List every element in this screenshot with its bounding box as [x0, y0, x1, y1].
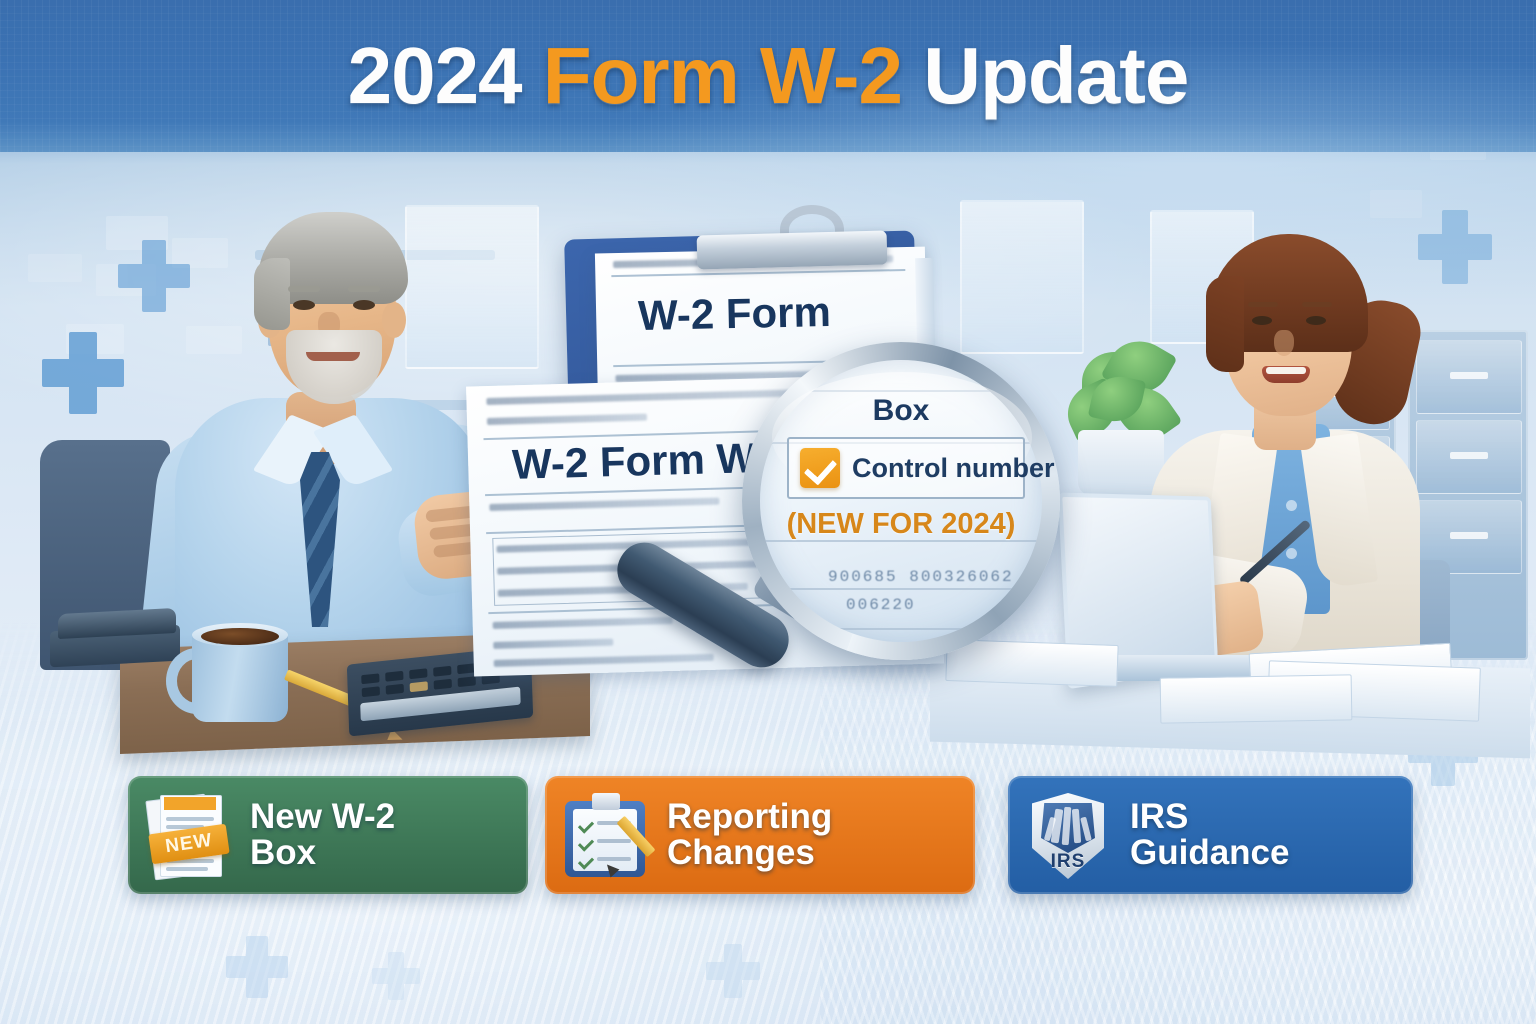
badge-irs-guidance[interactable]: IRS IRS Guidance: [1008, 776, 1413, 894]
background-mosaic-square: [186, 326, 242, 354]
cabinet-handle: [1450, 532, 1488, 539]
eye: [353, 300, 375, 310]
badge-line-1: IRS: [1130, 799, 1289, 835]
eye: [1252, 316, 1272, 325]
badge-new-w2-box[interactable]: NEW New W-2 Box: [128, 776, 528, 894]
background-plus-icon: [118, 240, 190, 312]
calculator-key: [361, 673, 379, 684]
badge-line-1: Reporting: [667, 799, 832, 835]
calculator-display: [360, 687, 521, 722]
background-plus-icon: [42, 332, 124, 414]
background-plus-icon: [372, 952, 420, 1000]
eagle-wing: [1072, 809, 1081, 843]
clipboard-clip: [697, 231, 888, 270]
calculator-key: [457, 663, 475, 674]
cabinet-handle: [1450, 452, 1488, 459]
badge-line-2: Box: [250, 835, 395, 871]
eyebrow: [1248, 302, 1278, 307]
new-for-2024-callout: (NEW FOR 2024): [760, 508, 1042, 541]
background-plus-icon: [226, 936, 288, 998]
shirt-button: [1286, 548, 1297, 559]
calculator-key: [433, 666, 451, 677]
paper-stack: [1160, 674, 1353, 723]
clipboard-clip: [592, 793, 620, 810]
badge-line-1: New W-2: [250, 799, 395, 835]
teeth: [1266, 367, 1306, 374]
checkbox-checked-icon[interactable]: [800, 448, 840, 488]
document-header-bar: [164, 797, 216, 810]
calculator-key: [385, 671, 403, 682]
eye: [1306, 316, 1326, 325]
hair: [1206, 276, 1244, 372]
clipboard-checklist-pencil-icon: [559, 789, 651, 881]
eagle-wing: [1062, 807, 1072, 845]
background-plus-icon: [706, 944, 760, 998]
badge-label-reporting-changes: Reporting Changes: [667, 799, 832, 872]
background-mosaic-square: [28, 254, 82, 282]
checklist-line: [597, 857, 631, 861]
title-form-w2: Form W-2: [543, 31, 902, 120]
title-update: Update: [902, 31, 1188, 120]
calculator-key: [458, 676, 476, 687]
eagle-wing: [1080, 817, 1092, 842]
stacked-documents-new-tag-icon: NEW: [142, 789, 234, 881]
office-window: [405, 205, 539, 369]
coffee-liquid: [201, 628, 279, 645]
badge-reporting-changes[interactable]: Reporting Changes: [545, 776, 975, 894]
badge-label-new-w2-box: New W-2 Box: [250, 799, 395, 872]
eye: [293, 300, 315, 310]
paper-stack: [945, 639, 1118, 687]
document-line: [166, 817, 214, 821]
eyebrow: [288, 286, 320, 292]
shirt-button: [1286, 500, 1297, 511]
banner-image: 2024 Form W-2 Update: [0, 0, 1536, 1024]
background-plus-icon: [1418, 210, 1492, 284]
title-year: 2024: [348, 31, 543, 120]
magnified-digits-row: 006220: [846, 596, 916, 614]
clipboard-form-title: W-2 Form: [638, 288, 832, 340]
magnified-box-label: Box: [760, 394, 1042, 428]
plant-pot: [1078, 430, 1164, 496]
ear: [382, 302, 406, 338]
nose: [1274, 330, 1294, 356]
calculator-key: [362, 686, 380, 697]
eyebrow: [1302, 302, 1332, 307]
mouth: [306, 352, 360, 361]
badge-label-irs-guidance: IRS Guidance: [1130, 799, 1289, 872]
hair: [254, 258, 290, 330]
cabinet-handle: [1450, 372, 1488, 379]
control-number-label: Control number: [852, 453, 1055, 484]
calculator-key: [434, 679, 452, 690]
badge-line-2: Changes: [667, 835, 832, 871]
irs-shield-emblem-icon: IRS: [1022, 789, 1114, 881]
calculator-key: [409, 668, 427, 679]
checklist-line: [597, 839, 631, 843]
page-title: 2024 Form W-2 Update: [0, 36, 1536, 116]
office-window: [960, 200, 1084, 354]
calculator-key: [410, 681, 428, 692]
irs-wordmark: IRS: [1032, 851, 1104, 873]
eyebrow: [348, 286, 380, 292]
badge-line-2: Guidance: [1130, 835, 1289, 871]
background-mosaic-square: [1370, 190, 1422, 218]
calculator-key: [386, 684, 404, 695]
control-number-field: Control number: [787, 437, 1025, 499]
document-line: [166, 867, 208, 871]
magnified-digits-row: 900685 800326062: [828, 568, 1014, 586]
